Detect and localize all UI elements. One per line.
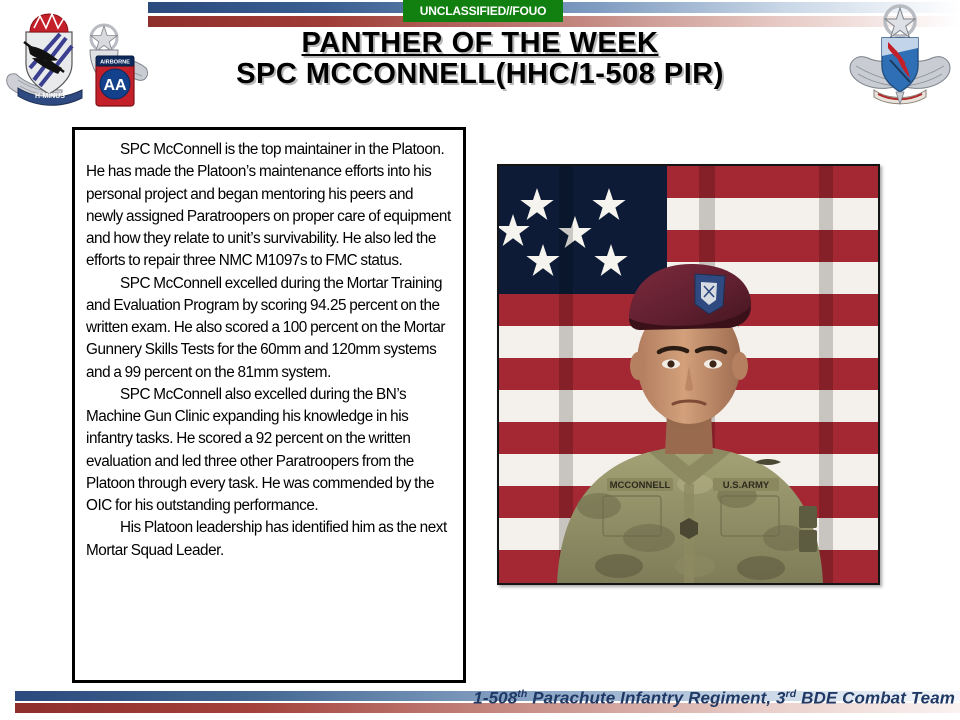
slide: UNCLASSIFIED//FOUO H-MINUS <box>0 0 960 720</box>
right-insignia-group <box>848 4 952 110</box>
left-insignia-group: H-MINUS AIRBORNE AA <box>4 2 154 120</box>
narrative-paragraph: His Platoon leadership has identified hi… <box>86 517 451 562</box>
svg-text:H-MINUS: H-MINUS <box>35 93 65 100</box>
service-tape-text: U.S.ARMY <box>723 480 770 491</box>
footer-ordinal-rd: rd <box>786 688 797 700</box>
footer-unit-suffix: BDE Combat Team <box>796 689 955 708</box>
narrative-text-box: SPC McConnell is the top maintainer in t… <box>72 127 466 683</box>
nametape-text: MCCONNELL <box>610 480 671 491</box>
footer-unit-prefix: 1-508 <box>473 689 517 708</box>
title-line-1: PANTHER OF THE WEEK <box>150 28 810 59</box>
title-line-2: SPC MCCONNELL(HHC/1-508 PIR) <box>150 59 810 90</box>
footer-unit-line: 1-508th Parachute Infantry Regiment, 3rd… <box>420 688 955 709</box>
soldier-portrait-image: MCCONNELL U.S.ARMY <box>499 166 878 583</box>
regimental-crest-icon: H-MINUS AIRBORNE AA <box>4 2 154 120</box>
footer-ordinal-th: th <box>517 688 527 700</box>
svg-text:AIRBORNE: AIRBORNE <box>100 60 130 66</box>
narrative-paragraph: SPC McConnell excelled during the Mortar… <box>86 273 451 384</box>
footer-unit-middle: Parachute Infantry Regiment, 3 <box>527 689 785 708</box>
narrative-paragraph: SPC McConnell is the top maintainer in t… <box>86 139 451 273</box>
page-title: PANTHER OF THE WEEK SPC MCCONNELL(HHC/1-… <box>150 28 810 91</box>
svg-text:AA: AA <box>103 77 127 94</box>
soldier-photo: MCCONNELL U.S.ARMY <box>497 164 880 585</box>
narrative-paragraph: SPC McConnell also excelled during the B… <box>86 384 451 518</box>
classification-banner: UNCLASSIFIED//FOUO <box>403 0 563 22</box>
master-parachutist-wings-icon <box>848 4 952 110</box>
